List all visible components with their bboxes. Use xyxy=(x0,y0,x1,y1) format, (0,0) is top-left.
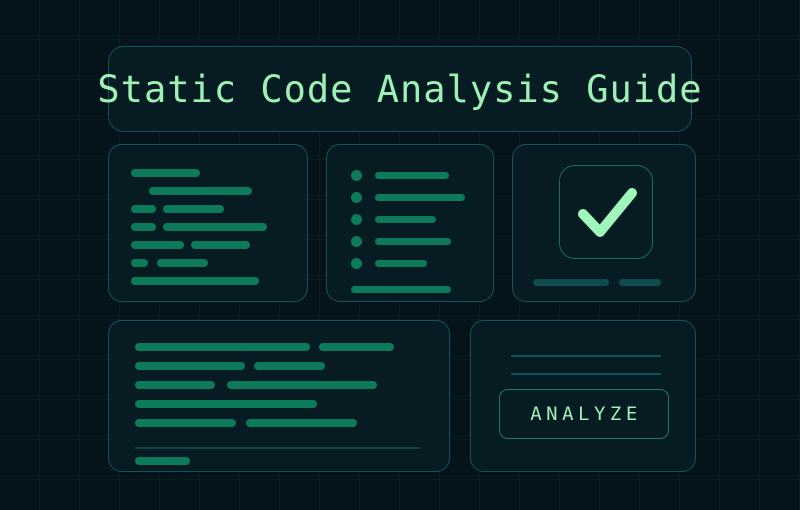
report-line-segment xyxy=(135,381,215,389)
report-footer-bar xyxy=(135,457,190,465)
report-line-segment xyxy=(135,419,236,427)
analyze-button[interactable]: ANALYZE xyxy=(499,389,669,439)
code-line-segment xyxy=(191,241,250,249)
report-line-segment xyxy=(254,362,325,370)
page-title: Static Code Analysis Guide xyxy=(97,68,702,111)
code-line-segment xyxy=(131,259,148,267)
code-line-segment xyxy=(157,259,208,267)
list-item-bar xyxy=(375,172,449,179)
code-line-segment xyxy=(131,241,184,249)
list-footer-bar xyxy=(351,286,451,293)
list-item-bar xyxy=(375,260,427,267)
report-line-segment xyxy=(135,343,310,351)
code-line-segment xyxy=(131,169,200,177)
code-line-segment xyxy=(163,223,267,231)
check-icon xyxy=(560,166,654,260)
report-line-segment xyxy=(227,381,377,389)
result-card xyxy=(512,144,696,302)
list-bullet-icon xyxy=(351,214,362,225)
list-item-bar xyxy=(375,238,451,245)
list-bullet-icon xyxy=(351,192,362,203)
analyze-button-label: ANALYZE xyxy=(526,403,642,425)
check-tile xyxy=(559,165,653,259)
result-footer-bar xyxy=(533,279,609,286)
code-line-segment xyxy=(163,205,224,213)
code-line-segment xyxy=(131,277,259,285)
list-bullet-icon xyxy=(351,170,362,181)
page-title-banner: Static Code Analysis Guide xyxy=(108,46,692,132)
result-footer-bar xyxy=(619,279,661,286)
list-bullet-icon xyxy=(351,236,362,247)
report-line-segment xyxy=(246,419,357,427)
code-line-segment xyxy=(149,187,252,195)
code-snippet-card xyxy=(108,144,308,302)
action-meta-line xyxy=(511,355,661,357)
report-line-segment xyxy=(135,400,317,408)
action-card: ANALYZE xyxy=(470,320,696,472)
guide-canvas: Static Code Analysis Guide xyxy=(0,0,800,510)
report-divider xyxy=(135,447,420,449)
list-bullet-icon xyxy=(351,258,362,269)
code-line-segment xyxy=(131,223,156,231)
report-line-segment xyxy=(319,343,394,351)
report-card xyxy=(108,320,450,472)
report-line-segment xyxy=(135,362,245,370)
list-item-bar xyxy=(375,194,465,201)
checklist-card xyxy=(326,144,494,302)
code-line-segment xyxy=(131,205,156,213)
list-item-bar xyxy=(375,216,436,223)
action-meta-line xyxy=(511,373,661,375)
